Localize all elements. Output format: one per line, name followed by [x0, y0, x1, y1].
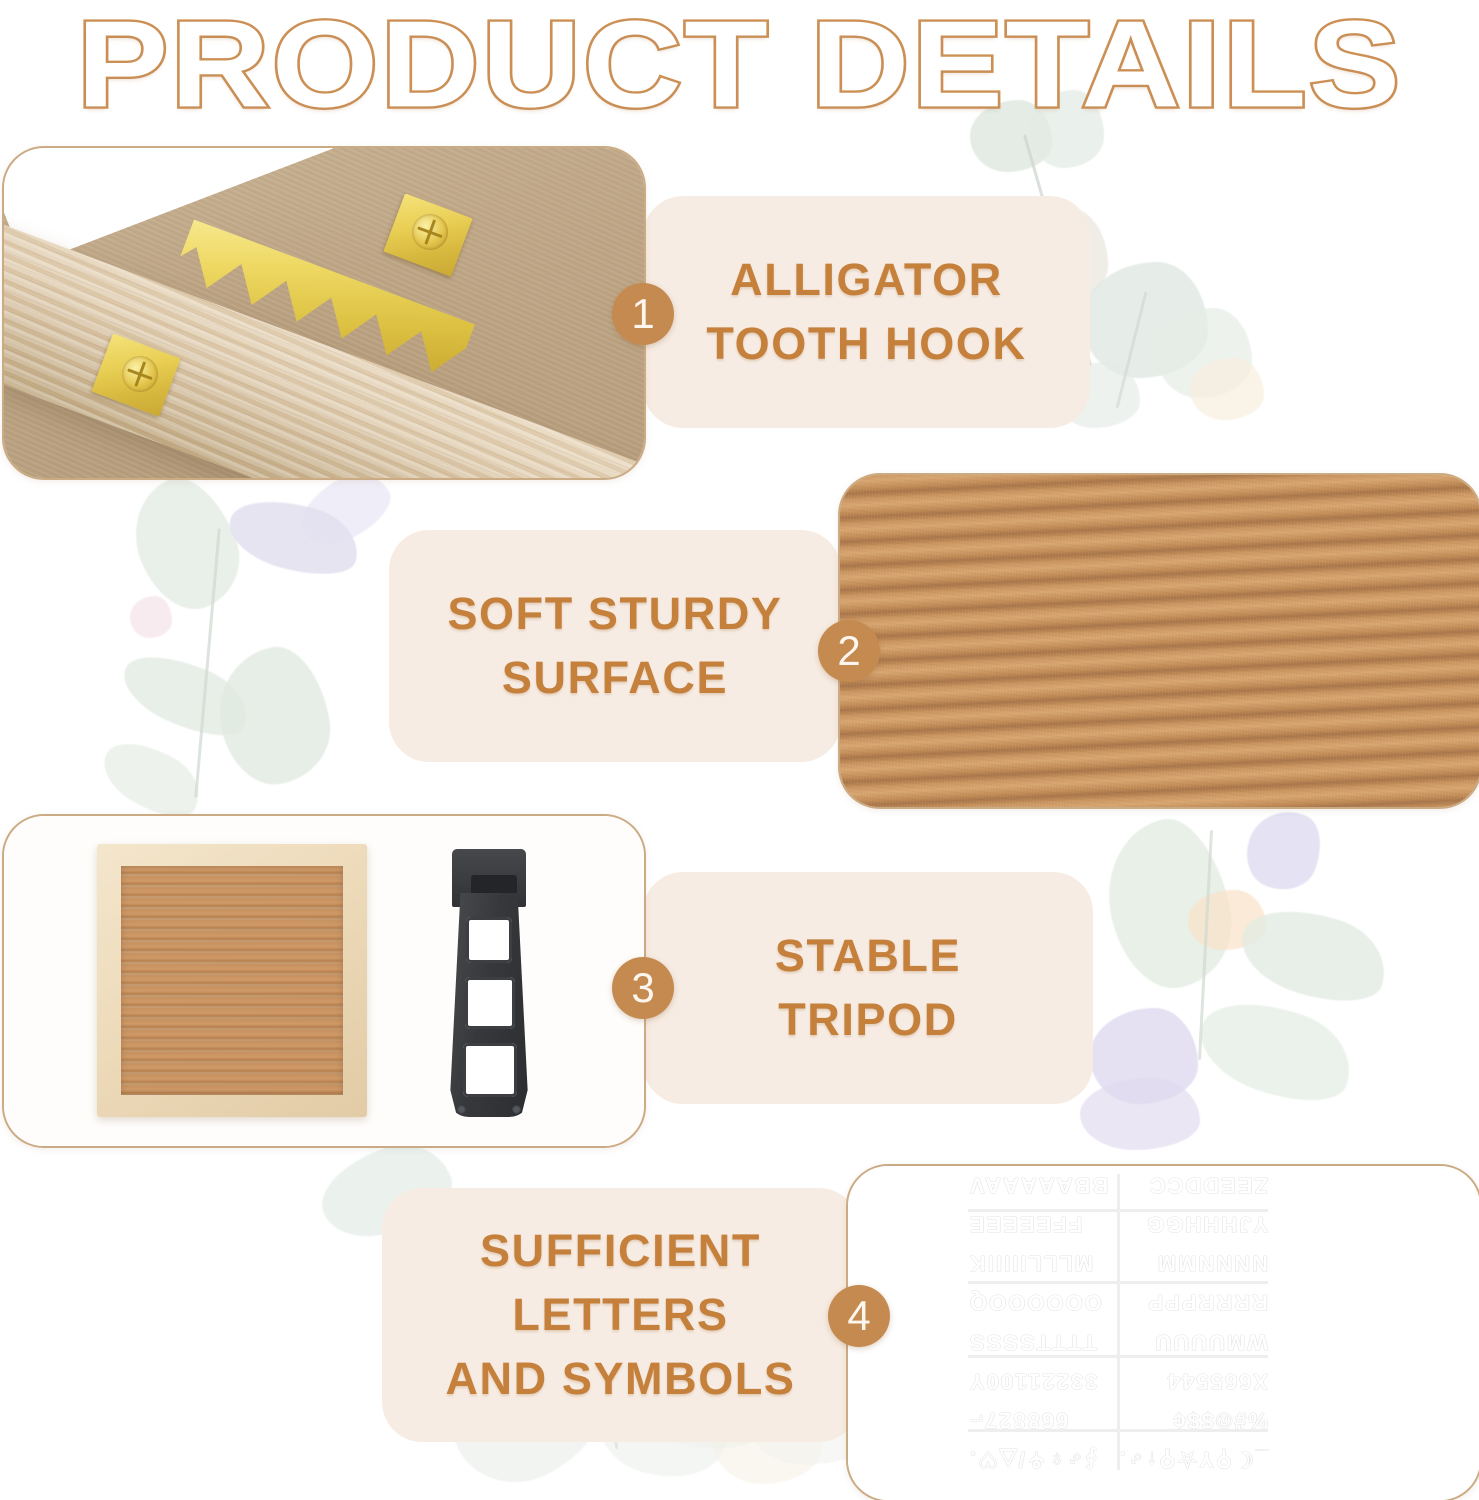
- tripod-rivet-left: [457, 1105, 466, 1114]
- letters-cell-right: FFEEEEE: [968, 1213, 1082, 1235]
- letters-cell-right: 668827⌐: [968, 1409, 1068, 1431]
- tripod-hole-3: [463, 1043, 517, 1097]
- letters-cell-left: RRRRPPP: [1146, 1291, 1268, 1313]
- letters-cell-left: ZEEDDCC: [1148, 1174, 1268, 1196]
- letters-cell-right: TTTTSSSS: [968, 1331, 1096, 1353]
- feature-label-panel-4: SUFFICIENT LETTERS AND SYMBOLS: [382, 1188, 859, 1442]
- tripod-stand: [444, 849, 534, 1117]
- feature-label-panel-3: STABLE TRIPOD: [643, 872, 1093, 1104]
- letters-cell-left: _☾⚲Y☆⚲↑♂.: [1118, 1448, 1268, 1470]
- letters-cell-right: MLLLIIIIIK: [968, 1252, 1093, 1274]
- feature-number-badge-4: 4: [828, 1285, 890, 1347]
- letters-cell-left: X665544: [1166, 1370, 1268, 1392]
- letters-sprue-grid: _☾⚲Y☆⚲↑♂. ∮♂♀⚘/△♡. %#®$$¢ 668827⌐ X66554…: [968, 1174, 1268, 1470]
- feature-number-badge-2: 2: [818, 620, 880, 682]
- tripod-hole-2: [465, 977, 515, 1029]
- feature-label-line: SOFT STURDY: [447, 582, 782, 646]
- infographic-canvas: PRODUCT DETAILS: [0, 0, 1479, 1500]
- sprue-divider-h3: [968, 1281, 1268, 1284]
- feature-number-badge-3: 3: [612, 957, 674, 1019]
- tripod-hole-1: [466, 917, 512, 963]
- feature-label-panel-1: ALLIGATOR TOOTH HOOK: [643, 196, 1090, 428]
- feature-label-line: STABLE: [775, 924, 961, 988]
- letters-cell-right: OOOOOOQ: [968, 1291, 1102, 1313]
- feature-label-line: AND SYMBOLS: [445, 1347, 795, 1411]
- feature-number-badge-1: 1: [612, 283, 674, 345]
- letterboard-felt-panel: [121, 866, 343, 1095]
- letters-cell-left: NNNNMM: [1156, 1252, 1268, 1274]
- tripod-rivet-right: [512, 1105, 521, 1114]
- feature-label-line: LETTERS: [512, 1283, 728, 1347]
- feature-label-line: ALLIGATOR: [730, 248, 1003, 312]
- letters-cell-left: YJHHHGG: [1145, 1213, 1268, 1235]
- feature-label-line: TRIPOD: [778, 988, 958, 1052]
- feature-label-line: TOOTH HOOK: [706, 312, 1026, 376]
- sprue-divider-h1: [968, 1429, 1268, 1432]
- grooved-felt-texture: [840, 475, 1479, 807]
- photo-board-and-tripod: [2, 814, 646, 1148]
- letters-cell-right: ∮♂♀⚘/△♡.: [968, 1448, 1097, 1470]
- page-title: PRODUCT DETAILS: [77, 3, 1403, 126]
- letters-cell-left: %#®$$¢: [1171, 1409, 1268, 1431]
- screw-right: [412, 214, 448, 250]
- photo-alligator-tooth-hook: [2, 146, 646, 480]
- feature-label-line: SUFFICIENT: [480, 1219, 761, 1283]
- page-title-container: PRODUCT DETAILS: [0, 0, 1479, 128]
- feature-label-line: SURFACE: [502, 646, 728, 710]
- feature-label-panel-2: SOFT STURDY SURFACE: [389, 530, 841, 762]
- botanical-decoration-right-middle: [1080, 810, 1479, 1210]
- letters-cell-right: 33221100Y: [968, 1370, 1097, 1392]
- photo-letters-and-symbols: _☾⚲Y☆⚲↑♂. ∮♂♀⚘/△♡. %#®$$¢ 668827⌐ X66554…: [846, 1164, 1479, 1500]
- screw-left: [122, 356, 158, 392]
- photo-felt-surface-closeup: [838, 473, 1479, 809]
- sprue-divider-vertical: [1117, 1174, 1120, 1470]
- letterboard-wood-frame: [97, 844, 367, 1117]
- letters-cell-left: WMUUUU: [1153, 1331, 1268, 1353]
- sprue-divider-h2: [968, 1355, 1268, 1358]
- sprue-divider-h4: [968, 1209, 1268, 1212]
- letters-cell-right: BBAAAAAV: [968, 1174, 1108, 1196]
